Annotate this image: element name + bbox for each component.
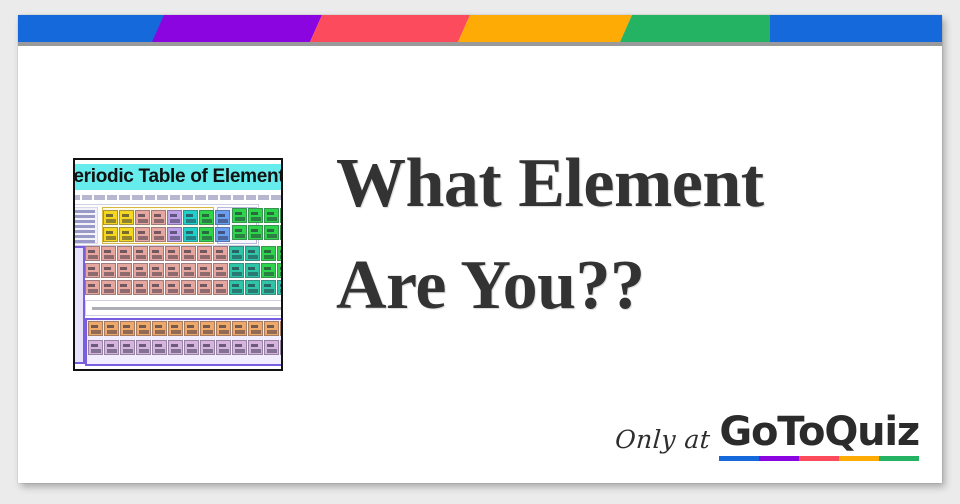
element-cell xyxy=(149,263,164,278)
element-cell xyxy=(199,210,214,225)
element-cell xyxy=(135,210,150,225)
element-cell xyxy=(197,280,212,295)
page-title: What Element Are You?? xyxy=(336,133,896,337)
rainbow-bar xyxy=(18,15,942,42)
element-cell xyxy=(245,263,260,278)
element-cell xyxy=(213,280,228,295)
element-cell xyxy=(85,246,100,261)
element-cell xyxy=(167,210,182,225)
brand-rule-red xyxy=(799,456,839,461)
element-cell xyxy=(135,227,150,242)
element-cell xyxy=(151,227,166,242)
periodic-table-row xyxy=(85,263,283,278)
element-cell xyxy=(181,246,196,261)
brand-rule-blue xyxy=(719,456,759,461)
element-cell xyxy=(213,246,228,261)
element-cell xyxy=(149,280,164,295)
periodic-table-row xyxy=(232,225,283,240)
periodic-table-row xyxy=(232,208,283,223)
periodic-table-row xyxy=(103,227,230,242)
element-cell xyxy=(264,208,279,223)
element-cell xyxy=(277,280,283,295)
element-cell xyxy=(103,227,118,242)
rainbow-segment-red xyxy=(310,15,470,42)
element-cell xyxy=(183,210,198,225)
element-cell xyxy=(245,280,260,295)
element-cell xyxy=(165,246,180,261)
element-cell xyxy=(245,246,260,261)
element-cell xyxy=(101,280,116,295)
element-cell xyxy=(104,321,119,336)
element-cell xyxy=(101,263,116,278)
periodic-table-row xyxy=(88,321,283,336)
element-cell xyxy=(133,263,148,278)
element-cell xyxy=(88,340,103,355)
element-cell xyxy=(117,246,132,261)
element-cell xyxy=(152,321,167,336)
element-cell xyxy=(103,210,118,225)
element-cell xyxy=(216,340,231,355)
element-cell xyxy=(181,263,196,278)
element-cell xyxy=(280,225,283,240)
element-cell xyxy=(88,321,103,336)
rainbow-segment-blue-left xyxy=(18,15,166,42)
element-cell xyxy=(149,246,164,261)
periodic-table-row xyxy=(85,246,283,261)
element-cell xyxy=(101,246,116,261)
element-cell xyxy=(165,263,180,278)
element-cell xyxy=(200,340,215,355)
legend-key-list xyxy=(73,207,98,244)
element-cell xyxy=(280,208,283,223)
element-cell xyxy=(261,246,276,261)
element-cell xyxy=(120,340,135,355)
element-cell xyxy=(215,210,230,225)
periodic-table-left-group-box xyxy=(73,246,85,364)
element-cell xyxy=(229,246,244,261)
brand-logo[interactable]: GoToQuiz xyxy=(719,411,919,461)
element-cell xyxy=(277,263,283,278)
element-cell xyxy=(280,321,283,336)
brand-underline-bar xyxy=(719,456,919,461)
brand-name-label: GoToQuiz xyxy=(719,411,919,453)
element-cell xyxy=(168,340,183,355)
element-cell xyxy=(248,340,263,355)
element-cell xyxy=(264,225,279,240)
element-cell xyxy=(264,340,279,355)
element-cell xyxy=(119,227,134,242)
element-cell xyxy=(215,227,230,242)
brand-rule-purple xyxy=(759,456,799,461)
element-cell xyxy=(248,208,263,223)
rainbow-segment-orange xyxy=(458,15,632,42)
element-cell xyxy=(248,321,263,336)
element-cell xyxy=(165,280,180,295)
element-cell xyxy=(200,321,215,336)
element-cell xyxy=(181,280,196,295)
periodic-table-row xyxy=(88,340,283,355)
topbar-divider xyxy=(18,42,942,46)
element-cell xyxy=(85,263,100,278)
element-cell xyxy=(280,340,283,355)
element-cell xyxy=(213,263,228,278)
element-cell xyxy=(232,340,247,355)
periodic-table-row xyxy=(103,210,230,225)
brand-footer[interactable]: Only at GoToQuiz xyxy=(615,411,919,461)
element-cell xyxy=(216,321,231,336)
element-cell xyxy=(151,210,166,225)
element-cell xyxy=(168,321,183,336)
element-cell xyxy=(248,225,263,240)
element-cell xyxy=(119,210,134,225)
periodic-table-footnote xyxy=(85,300,283,316)
element-cell xyxy=(184,340,199,355)
element-cell xyxy=(184,321,199,336)
page-title-line-1: What Element xyxy=(336,133,896,235)
element-cell xyxy=(85,280,100,295)
element-cell xyxy=(232,321,247,336)
element-cell xyxy=(120,321,135,336)
element-cell xyxy=(183,227,198,242)
element-cell xyxy=(232,208,247,223)
element-cell xyxy=(264,321,279,336)
element-cell xyxy=(197,246,212,261)
element-cell xyxy=(229,280,244,295)
element-cell xyxy=(117,280,132,295)
brand-rule-orange xyxy=(839,456,879,461)
element-cell xyxy=(277,246,283,261)
periodic-table-image: Periodic Table of Elements xyxy=(73,160,283,369)
rainbow-segment-green xyxy=(620,15,782,42)
element-cell xyxy=(152,340,167,355)
element-cell xyxy=(167,227,182,242)
brand-only-at-label: Only at xyxy=(614,425,721,461)
element-cell xyxy=(133,246,148,261)
rainbow-segment-blue-right xyxy=(770,15,942,42)
element-cell xyxy=(117,263,132,278)
periodic-table-heading: Periodic Table of Elements xyxy=(73,164,283,190)
element-cell xyxy=(261,280,276,295)
rainbow-segment-purple xyxy=(152,15,322,42)
page-title-line-2: Are You?? xyxy=(336,235,896,337)
element-cell xyxy=(229,263,244,278)
element-cell xyxy=(136,321,151,336)
element-cell xyxy=(232,225,247,240)
element-cell xyxy=(199,227,214,242)
element-cell xyxy=(136,340,151,355)
quiz-title-card: Periodic Table of Elements xyxy=(18,15,942,483)
brand-rule-green xyxy=(879,456,919,461)
periodic-table-group-numbers xyxy=(73,193,283,202)
element-cell xyxy=(133,280,148,295)
periodic-table-row xyxy=(85,280,283,295)
element-cell xyxy=(261,263,276,278)
quiz-thumbnail[interactable]: Periodic Table of Elements xyxy=(73,158,283,371)
element-cell xyxy=(104,340,119,355)
element-cell xyxy=(197,263,212,278)
